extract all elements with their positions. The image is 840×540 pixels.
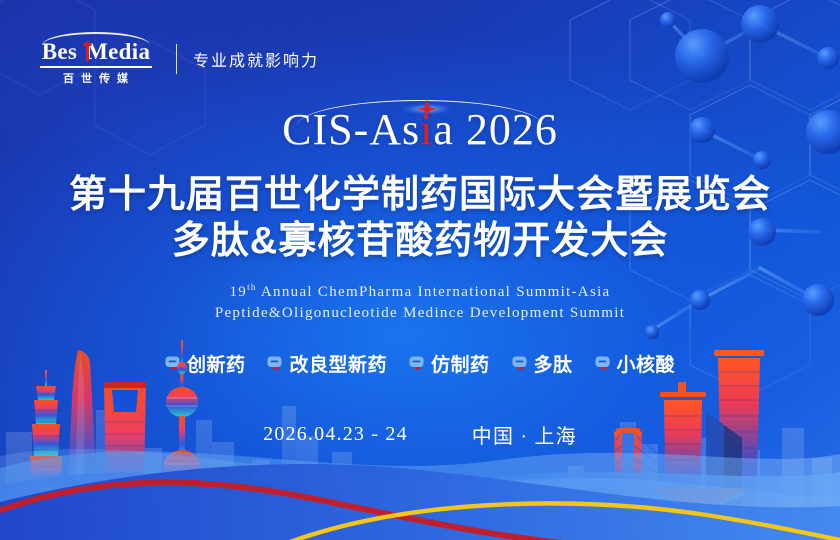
brand-logo[interactable]: BesMedia 百世传媒 — [38, 33, 154, 86]
logo-wordmark-pre: Bes — [42, 39, 77, 64]
event-code-title: CIS-Asia 2026 — [282, 104, 558, 156]
main-title-line1: 第十九届百世化学制药国际大会暨展览会 — [0, 172, 840, 218]
main-title-line2: 多肽&寡核苷酸药物开发大会 — [0, 218, 840, 264]
subtitle-line1-rest: Annual ChemPharma International Summit-A… — [257, 284, 611, 300]
logo-chinese-name: 百世传媒 — [38, 70, 154, 86]
wave-decoration — [0, 410, 840, 540]
header-divider — [176, 44, 177, 74]
logo-divider-rule — [40, 66, 152, 68]
logo-wordmark: BesMedia — [38, 33, 154, 65]
main-title: 第十九届百世化学制药国际大会暨展览会 多肽&寡核苷酸药物开发大会 — [0, 172, 840, 264]
sparkle-icon — [400, 95, 454, 119]
event-code-wrap: CIS-Asia 2026 — [0, 104, 840, 156]
banner-header: BesMedia 百世传媒 专业成就影响力 — [38, 34, 319, 84]
subtitle-edition-number: 19 — [229, 284, 247, 300]
english-subtitle: 19th Annual ChemPharma International Sum… — [0, 277, 840, 324]
logo-tower-icon — [83, 41, 92, 61]
english-subtitle-line1: 19th Annual ChemPharma International Sum… — [0, 277, 840, 303]
english-subtitle-line2: Peptide&Oligonucleotide Medince Developm… — [0, 303, 840, 324]
header-tagline: 专业成就影响力 — [193, 47, 319, 71]
conference-banner: BesMedia 百世传媒 专业成就影响力 CIS-Asia 2026 第十九届… — [0, 0, 840, 540]
event-code-accent-letter: i — [420, 105, 433, 154]
subtitle-edition-suffix: th — [247, 282, 257, 292]
